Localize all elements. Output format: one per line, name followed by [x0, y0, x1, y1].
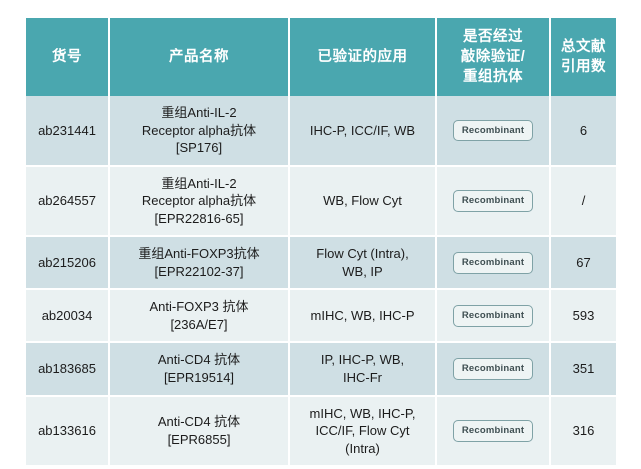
- cell-catalog: ab231441: [26, 96, 110, 167]
- column-header-citations: 总文献 引用数: [551, 18, 616, 96]
- column-header-applications: 已验证的应用: [290, 18, 437, 96]
- product-name-line: Receptor alpha抗体: [115, 192, 283, 210]
- product-name-line: 重组Anti-FOXP3抗体: [115, 245, 283, 263]
- product-name-line: [EPR22102-37]: [115, 263, 283, 281]
- cell-citations: 593: [551, 290, 616, 343]
- antibody-product-table: 货号 产品名称 已验证的应用 是否经过 敲除验证/ 重组抗体 总文献 引用数: [26, 18, 616, 465]
- application-line: WB, Flow Cyt: [295, 192, 430, 210]
- application-line: ICC/IF, Flow Cyt: [295, 422, 430, 440]
- cell-catalog: ab133616: [26, 397, 110, 466]
- product-name-line: 重组Anti-IL-2: [115, 104, 283, 122]
- table-body: ab231441 重组Anti-IL-2 Receptor alpha抗体 [S…: [26, 96, 616, 465]
- header-line: 重组抗体: [441, 67, 545, 87]
- cell-applications: WB, Flow Cyt: [290, 167, 437, 238]
- cell-validation: Recombinant: [437, 237, 551, 290]
- cell-citations: 351: [551, 343, 616, 396]
- page-root: 货号 产品名称 已验证的应用 是否经过 敲除验证/ 重组抗体 总文献 引用数: [0, 0, 641, 469]
- table-row: ab264557 重组Anti-IL-2 Receptor alpha抗体 [E…: [26, 167, 616, 238]
- product-name-line: 重组Anti-IL-2: [115, 175, 283, 193]
- header-line: 已验证的应用: [294, 47, 431, 67]
- table-row: ab231441 重组Anti-IL-2 Receptor alpha抗体 [S…: [26, 96, 616, 167]
- product-name-line: [EPR6855]: [115, 431, 283, 449]
- application-line: Flow Cyt (Intra),: [295, 245, 430, 263]
- cell-applications: Flow Cyt (Intra), WB, IP: [290, 237, 437, 290]
- header-line: 是否经过: [441, 27, 545, 47]
- product-name-line: Anti-CD4 抗体: [115, 351, 283, 369]
- column-header-catalog: 货号: [26, 18, 110, 96]
- cell-applications: mIHC, WB, IHC-P: [290, 290, 437, 343]
- product-name-line: Receptor alpha抗体: [115, 122, 283, 140]
- header-line: 敲除验证/: [441, 47, 545, 67]
- cell-product-name: Anti-CD4 抗体 [EPR6855]: [110, 397, 290, 466]
- product-name-line: [SP176]: [115, 139, 283, 157]
- header-line: 引用数: [555, 57, 612, 77]
- column-header-product-name: 产品名称: [110, 18, 290, 96]
- status-badge-recombinant: Recombinant: [453, 358, 533, 380]
- status-badge-recombinant: Recombinant: [453, 305, 533, 327]
- status-badge-recombinant: Recombinant: [453, 120, 533, 142]
- header-line: 货号: [30, 47, 104, 67]
- product-name-line: Anti-FOXP3 抗体: [115, 298, 283, 316]
- cell-catalog: ab183685: [26, 343, 110, 396]
- cell-applications: mIHC, WB, IHC-P, ICC/IF, Flow Cyt (Intra…: [290, 397, 437, 466]
- cell-citations: 6: [551, 96, 616, 167]
- cell-citations: /: [551, 167, 616, 238]
- cell-product-name: 重组Anti-FOXP3抗体 [EPR22102-37]: [110, 237, 290, 290]
- product-name-line: [EPR19514]: [115, 369, 283, 387]
- cell-product-name: Anti-FOXP3 抗体 [236A/E7]: [110, 290, 290, 343]
- cell-applications: IHC-P, ICC/IF, WB: [290, 96, 437, 167]
- cell-validation: Recombinant: [437, 96, 551, 167]
- table-row: ab133616 Anti-CD4 抗体 [EPR6855] mIHC, WB,…: [26, 397, 616, 466]
- cell-product-name: Anti-CD4 抗体 [EPR19514]: [110, 343, 290, 396]
- status-badge-recombinant: Recombinant: [453, 252, 533, 274]
- cell-validation: Recombinant: [437, 167, 551, 238]
- table-row: ab215206 重组Anti-FOXP3抗体 [EPR22102-37] Fl…: [26, 237, 616, 290]
- cell-catalog: ab215206: [26, 237, 110, 290]
- application-line: IHC-P, ICC/IF, WB: [295, 122, 430, 140]
- table-row: ab183685 Anti-CD4 抗体 [EPR19514] IP, IHC-…: [26, 343, 616, 396]
- cell-citations: 316: [551, 397, 616, 466]
- cell-product-name: 重组Anti-IL-2 Receptor alpha抗体 [SP176]: [110, 96, 290, 167]
- application-line: (Intra): [295, 440, 430, 458]
- application-line: mIHC, WB, IHC-P,: [295, 405, 430, 423]
- column-header-validation: 是否经过 敲除验证/ 重组抗体: [437, 18, 551, 96]
- header-line: 产品名称: [114, 47, 284, 67]
- application-line: IHC-Fr: [295, 369, 430, 387]
- header-row: 货号 产品名称 已验证的应用 是否经过 敲除验证/ 重组抗体 总文献 引用数: [26, 18, 616, 96]
- cell-validation: Recombinant: [437, 343, 551, 396]
- header-line: 总文献: [555, 37, 612, 57]
- cell-validation: Recombinant: [437, 290, 551, 343]
- cell-product-name: 重组Anti-IL-2 Receptor alpha抗体 [EPR22816-6…: [110, 167, 290, 238]
- cell-applications: IP, IHC-P, WB, IHC-Fr: [290, 343, 437, 396]
- application-line: WB, IP: [295, 263, 430, 281]
- cell-validation: Recombinant: [437, 397, 551, 466]
- status-badge-recombinant: Recombinant: [453, 190, 533, 212]
- status-badge-recombinant: Recombinant: [453, 420, 533, 442]
- application-line: mIHC, WB, IHC-P: [295, 307, 430, 325]
- cell-catalog: ab264557: [26, 167, 110, 238]
- table-header: 货号 产品名称 已验证的应用 是否经过 敲除验证/ 重组抗体 总文献 引用数: [26, 18, 616, 96]
- application-line: IP, IHC-P, WB,: [295, 351, 430, 369]
- product-name-line: Anti-CD4 抗体: [115, 413, 283, 431]
- product-name-line: [EPR22816-65]: [115, 210, 283, 228]
- cell-citations: 67: [551, 237, 616, 290]
- table-row: ab20034 Anti-FOXP3 抗体 [236A/E7] mIHC, WB…: [26, 290, 616, 343]
- product-name-line: [236A/E7]: [115, 316, 283, 334]
- cell-catalog: ab20034: [26, 290, 110, 343]
